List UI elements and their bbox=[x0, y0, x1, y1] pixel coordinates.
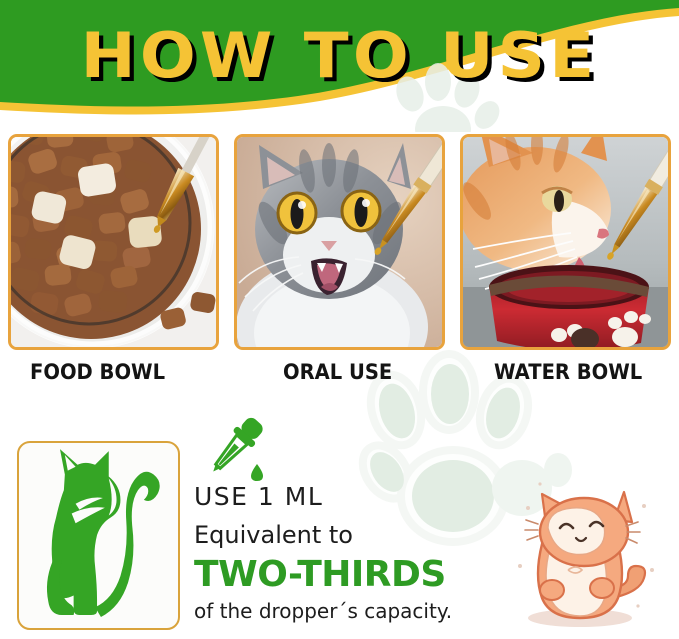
page-header: HOW TO USE bbox=[0, 0, 679, 132]
dosage-line-fraction: TWO-THIRDS bbox=[194, 554, 494, 596]
green-dropper-icon bbox=[208, 412, 270, 484]
ginger-cat-drinking-from-red-bowl-photo bbox=[463, 137, 668, 347]
bowl-of-kibble-with-dropper-photo bbox=[11, 137, 216, 347]
grey-cat-open-mouth-with-dropper-photo bbox=[237, 137, 442, 347]
green-sitting-cat-silhouette bbox=[19, 443, 178, 628]
page-title: HOW TO USE bbox=[0, 16, 679, 96]
usage-photo-row bbox=[0, 134, 679, 350]
chubby-orange-cartoon-cat-mascot bbox=[494, 466, 670, 634]
photo-card-oral-use[interactable] bbox=[234, 134, 445, 350]
dosage-instructions: USE 1 ML Equivalent to TWO-THIRDS of the… bbox=[194, 482, 494, 625]
dosage-line-capacity: of the dropper´s capacity. bbox=[194, 597, 494, 625]
photo-card-water-bowl[interactable] bbox=[460, 134, 671, 350]
photo-card-food-bowl[interactable] bbox=[8, 134, 219, 350]
cat-silhouette-card bbox=[17, 441, 180, 630]
caption-oral-use: ORAL USE bbox=[283, 358, 392, 386]
dosage-line-equivalent: Equivalent to bbox=[194, 518, 494, 552]
caption-water-bowl: WATER BOWL bbox=[494, 358, 642, 386]
dosage-line-amount: USE 1 ML bbox=[194, 482, 494, 512]
caption-food-bowl: FOOD BOWL bbox=[30, 358, 165, 386]
